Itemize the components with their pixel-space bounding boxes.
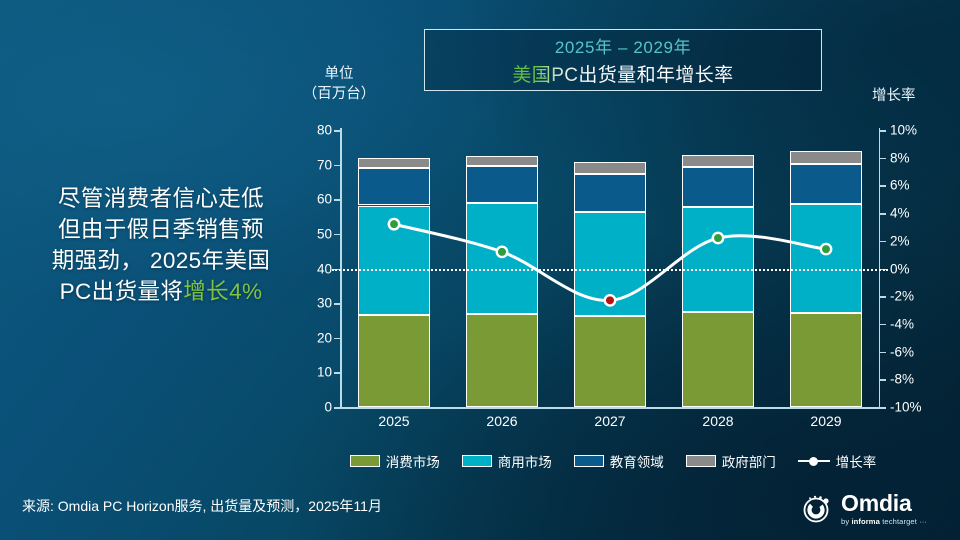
growth-line-marker bbox=[497, 247, 507, 257]
omdia-logo: Omdia by informa techtarget ··· bbox=[800, 487, 950, 531]
y2-tick-label: -8% bbox=[890, 372, 950, 387]
growth-line-marker bbox=[821, 244, 831, 254]
y-tick-label: 30 bbox=[272, 296, 332, 311]
legend-item[interactable]: 商用市场 bbox=[462, 451, 552, 471]
x-axis-label: 2028 bbox=[678, 413, 758, 429]
legend-label: 商用市场 bbox=[498, 451, 552, 471]
y2-tick-label: 8% bbox=[890, 150, 950, 165]
growth-line-path bbox=[394, 224, 826, 300]
y-tick-label: 20 bbox=[272, 330, 332, 345]
y2-tick bbox=[880, 130, 886, 132]
y-tick-label: 80 bbox=[272, 123, 332, 138]
headline-line-4: PC出货量将增长4% bbox=[16, 276, 306, 307]
y2-tick-label: 10% bbox=[890, 123, 950, 138]
chart-legend: 消费市场商用市场教育领域政府部门增长率 bbox=[340, 450, 886, 472]
legend-marker bbox=[809, 457, 818, 466]
y2-tick bbox=[880, 324, 886, 326]
y-tick-label: 60 bbox=[272, 192, 332, 207]
headline-accent: 增长4% bbox=[183, 279, 262, 304]
chart-title-box: 2025年 – 2029年 美国PC出货量和年增长率 bbox=[424, 29, 822, 91]
y2-tick-label: 4% bbox=[890, 206, 950, 221]
y2-tick-label: -2% bbox=[890, 289, 950, 304]
legend-line-swatch bbox=[798, 455, 830, 467]
y2-tick bbox=[880, 379, 886, 381]
omdia-logo-tagline: by informa techtarget ··· bbox=[841, 518, 927, 526]
legend-item[interactable]: 政府部门 bbox=[686, 451, 776, 471]
chart-subtitle-years: 2025年 – 2029年 bbox=[555, 33, 691, 58]
y2-tick bbox=[880, 296, 886, 298]
logo-sub-brand: informa bbox=[851, 517, 880, 526]
left-axis-caption-line-2: （百万台） bbox=[300, 84, 378, 104]
y2-tick-label: -4% bbox=[890, 316, 950, 331]
y2-tick-label: 2% bbox=[890, 233, 950, 248]
legend-label: 教育领域 bbox=[610, 451, 664, 471]
growth-rate-line bbox=[340, 130, 880, 407]
legend-item[interactable]: 增长率 bbox=[798, 451, 877, 471]
y-tick-label: 0 bbox=[272, 400, 332, 415]
logo-sub-post: techtarget ··· bbox=[880, 517, 927, 526]
y2-tick bbox=[880, 158, 886, 160]
y2-tick bbox=[880, 352, 886, 354]
y-tick-label: 10 bbox=[272, 365, 332, 380]
headline-line-1: 尽管消费者信心走低 bbox=[16, 183, 306, 214]
x-axis-label: 2026 bbox=[462, 413, 542, 429]
headline-line-3: 期强劲， 2025年美国 bbox=[16, 245, 306, 276]
right-axis-caption: 增长率 bbox=[872, 84, 956, 105]
y-tick bbox=[334, 407, 340, 409]
x-axis-label: 2027 bbox=[570, 413, 650, 429]
legend-label: 政府部门 bbox=[722, 451, 776, 471]
y2-tick bbox=[880, 407, 886, 409]
logo-sub-pre: by bbox=[841, 517, 851, 526]
x-axis-label: 2025 bbox=[354, 413, 434, 429]
x-axis-line bbox=[340, 407, 880, 409]
legend-swatch bbox=[686, 455, 716, 467]
headline-line-2: 但由于假日季销售预 bbox=[16, 214, 306, 245]
legend-item[interactable]: 消费市场 bbox=[350, 451, 440, 471]
source-note: 来源: Omdia PC Horizon服务, 出货量及预测，2025年11月 bbox=[22, 496, 382, 516]
omdia-logo-name: Omdia bbox=[841, 492, 927, 515]
y2-tick bbox=[880, 213, 886, 215]
legend-label: 增长率 bbox=[836, 451, 877, 471]
omdia-logo-icon bbox=[800, 492, 834, 526]
chart-plot-area: 01020304050607080 -10%-8%-6%-4%-2%0%2%4%… bbox=[340, 130, 880, 407]
y2-tick bbox=[880, 185, 886, 187]
growth-line-marker bbox=[713, 233, 723, 243]
headline-text: 尽管消费者信心走低 但由于假日季销售预 期强劲， 2025年美国 PC出货量将增… bbox=[16, 183, 306, 307]
slide-root: 尽管消费者信心走低 但由于假日季销售预 期强劲， 2025年美国 PC出货量将增… bbox=[0, 0, 960, 540]
legend-item[interactable]: 教育领域 bbox=[574, 451, 664, 471]
y2-tick bbox=[880, 241, 886, 243]
x-axis-label: 2029 bbox=[786, 413, 866, 429]
y2-tick-label: -6% bbox=[890, 344, 950, 359]
y2-tick-label: -10% bbox=[890, 400, 950, 415]
y-tick-label: 40 bbox=[272, 261, 332, 276]
chart-title: 美国PC出货量和年增长率 bbox=[512, 60, 733, 87]
y2-tick-label: 6% bbox=[890, 178, 950, 193]
legend-swatch bbox=[574, 455, 604, 467]
legend-swatch bbox=[350, 455, 380, 467]
y-tick-label: 70 bbox=[272, 157, 332, 172]
legend-swatch bbox=[462, 455, 492, 467]
growth-line-marker bbox=[605, 295, 615, 305]
headline-line-4-text: PC出货量将 bbox=[60, 279, 184, 304]
left-axis-caption: 单位 （百万台） bbox=[300, 64, 378, 104]
left-axis-caption-line-1: 单位 bbox=[300, 64, 378, 84]
y-tick-label: 50 bbox=[272, 226, 332, 241]
growth-line-marker bbox=[389, 219, 399, 229]
legend-label: 消费市场 bbox=[386, 451, 440, 471]
omdia-logo-text: Omdia by informa techtarget ··· bbox=[841, 492, 927, 526]
y2-tick-label: 0% bbox=[890, 261, 950, 276]
